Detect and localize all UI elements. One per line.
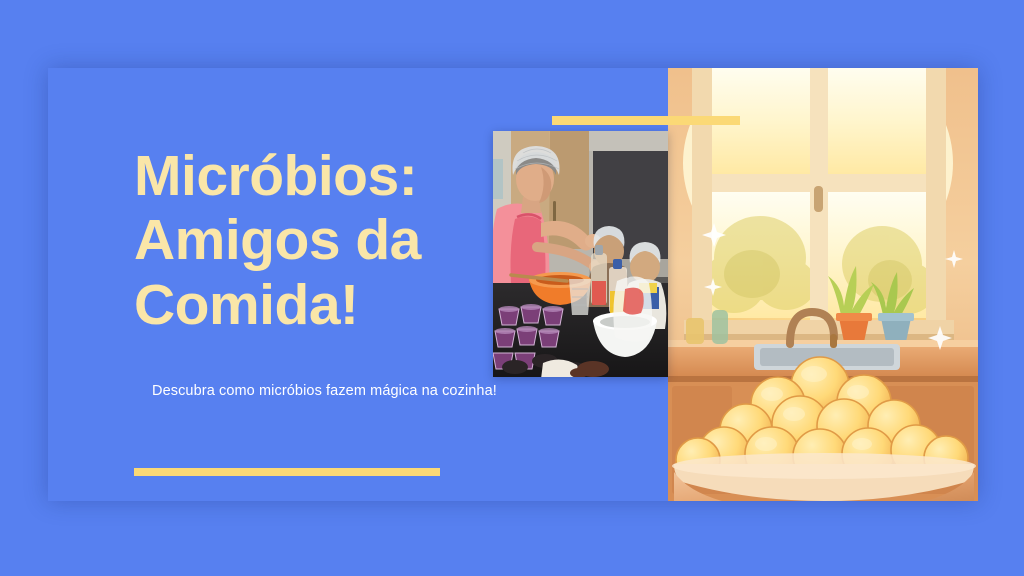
slide-subtitle: Descubra como micróbios fazem mágica na … [152,381,552,402]
bottom-accent-bar [134,468,440,476]
plastic-bag [613,276,652,341]
slide-canvas: Micróbios: Amigos da Comida! Descubra co… [0,0,1024,576]
photo-icon [493,131,668,377]
measuring-jug [569,279,591,315]
kitchen-illustration [668,68,978,501]
cooking-photo [493,131,668,377]
top-accent-bar [552,116,740,125]
illustration-icon [668,68,978,501]
slide-panel: Micróbios: Amigos da Comida! Descubra co… [48,68,978,501]
